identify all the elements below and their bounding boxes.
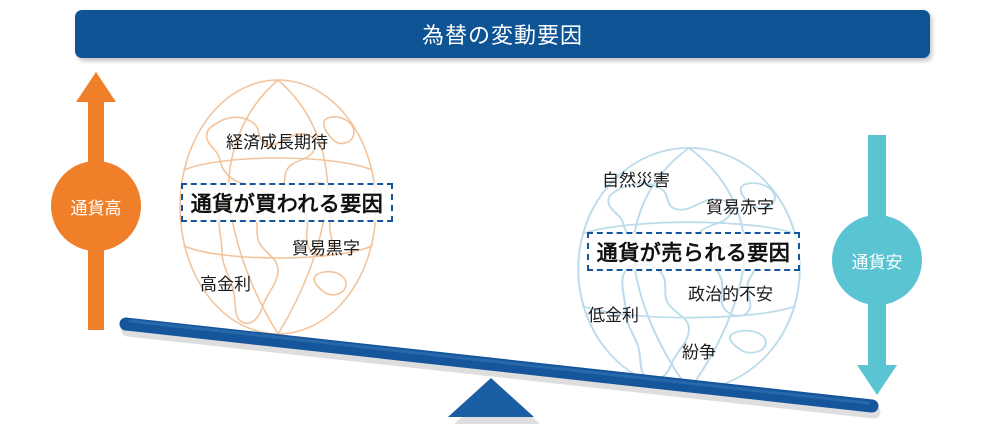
diagram-canvas: 為替の変動要因 経済成長期待 貿易黒字 高金利 通貨が買われる要因: [0, 0, 1000, 425]
triangle-fulcrum-icon: [448, 378, 534, 417]
seesaw-group: [0, 0, 1000, 425]
